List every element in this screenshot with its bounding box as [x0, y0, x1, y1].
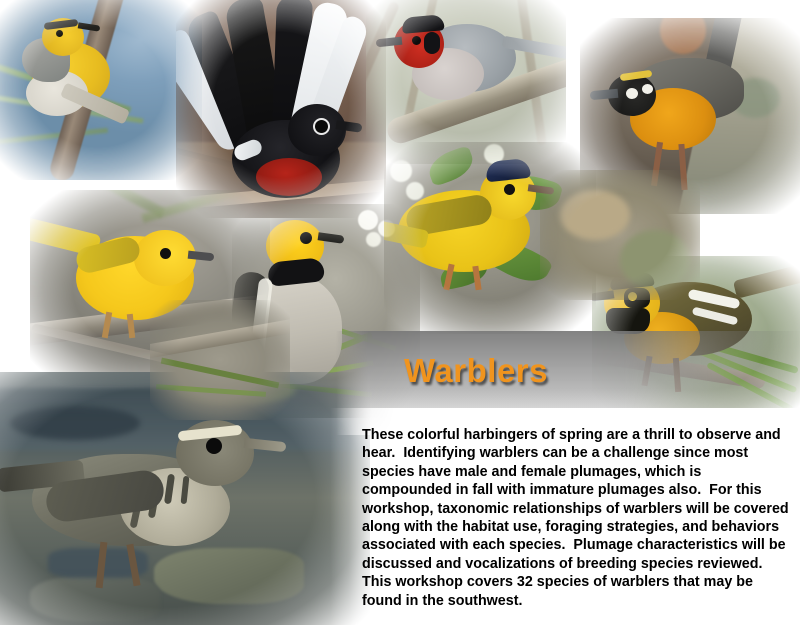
description-text: These colorful harbingers of spring are …: [362, 426, 792, 610]
slide-canvas: Warblers These colorful harbingers of sp…: [0, 0, 800, 625]
photo-painted-redstart: [176, 0, 386, 218]
photo-graces-warbler: [0, 0, 202, 180]
photo-filler-foliage-left: [150, 300, 290, 420]
photo-filler-foliage-right: [540, 170, 700, 300]
page-title: Warblers: [404, 352, 548, 390]
photo-red-faced-warbler: [366, 0, 566, 164]
